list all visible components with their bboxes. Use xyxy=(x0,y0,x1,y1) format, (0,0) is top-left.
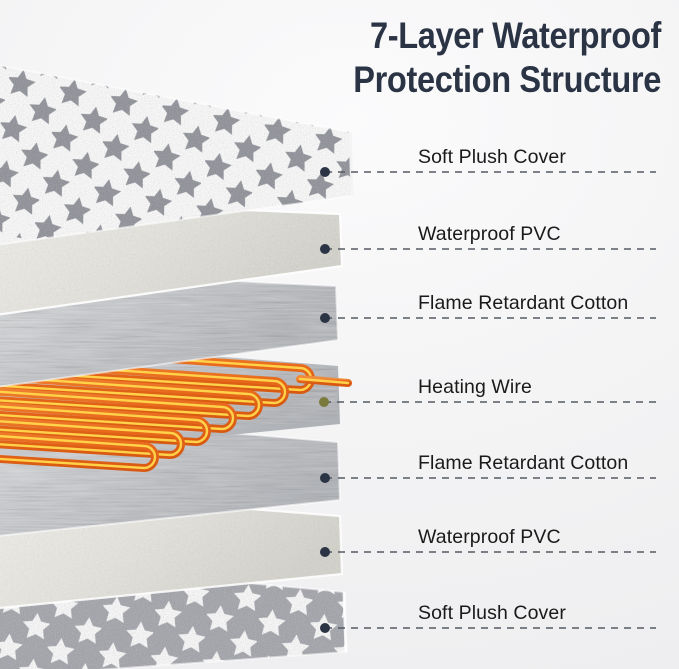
layer-label-flame-retardant-cotton-top: Flame Retardant Cotton xyxy=(418,292,628,315)
layer-label-soft-plush-cover-bottom: Soft Plush Cover xyxy=(418,602,566,625)
layer-label-waterproof-pvc-top: Waterproof PVC xyxy=(418,223,561,246)
layer-label-waterproof-pvc-bottom: Waterproof PVC xyxy=(418,526,561,549)
layer-label-heating-wire: Heating Wire xyxy=(418,376,532,399)
layer-label-flame-retardant-cotton-bottom: Flame Retardant Cotton xyxy=(418,452,628,475)
infographic-root: 7-Layer Waterproof Protection Structure … xyxy=(0,0,679,669)
layer-label-soft-plush-cover-top: Soft Plush Cover xyxy=(418,146,566,169)
layer-stack-illustration xyxy=(0,0,679,669)
